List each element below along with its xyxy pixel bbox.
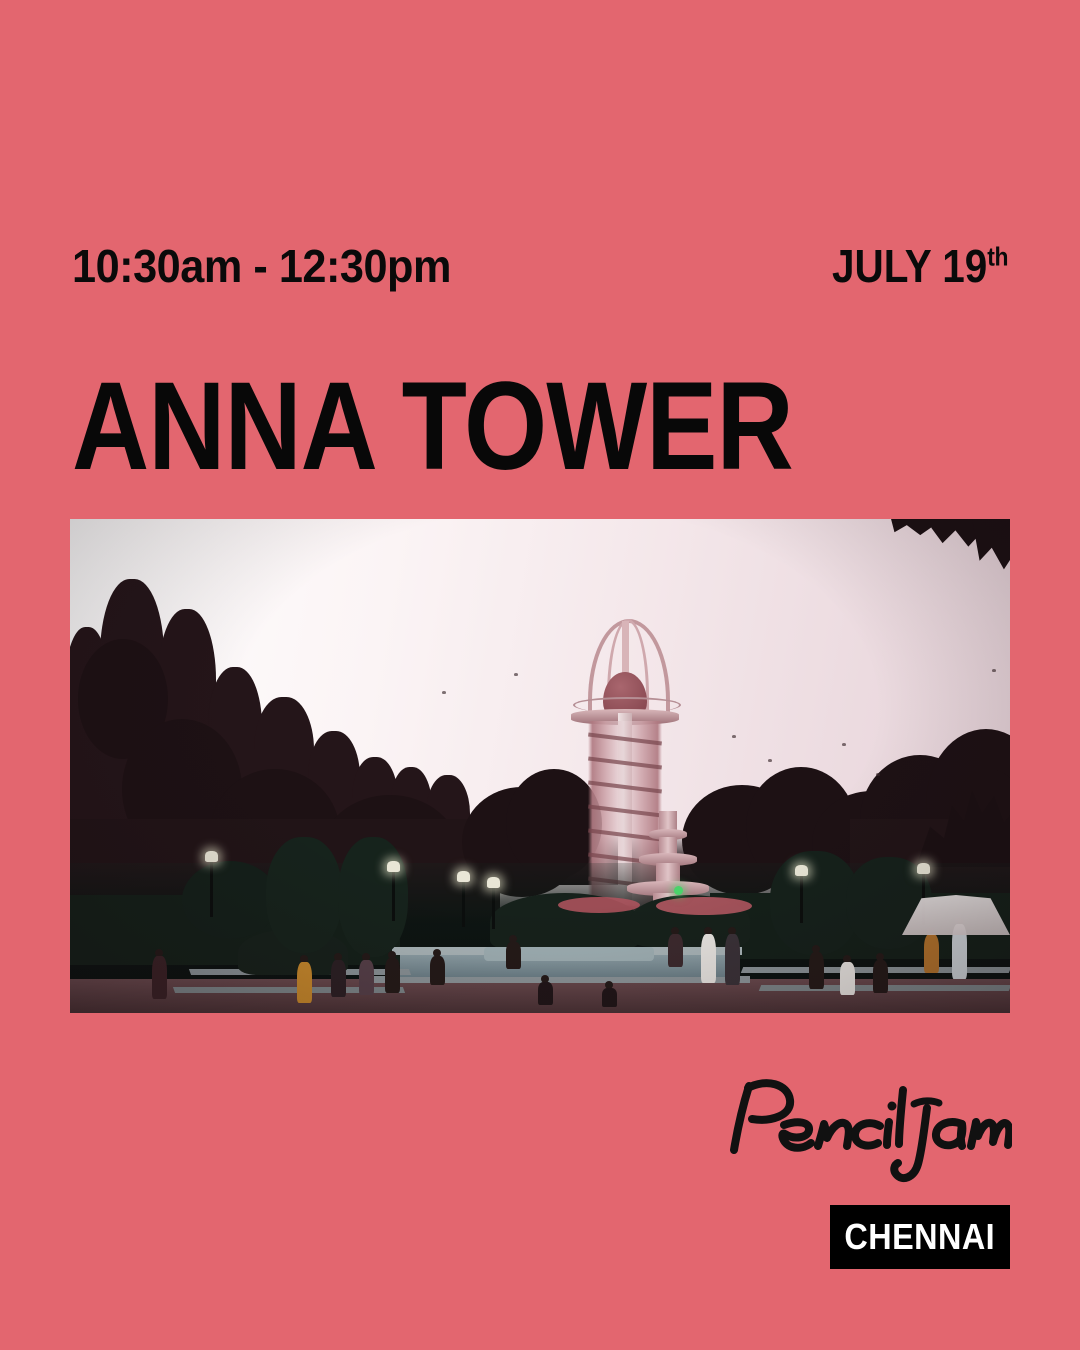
lamp-head [387,861,400,872]
visitor-figure [722,927,742,985]
lamp-post [204,851,218,917]
palm-tree [266,837,342,953]
lamp-post [386,861,400,921]
bird-speck [992,669,996,672]
bird-speck [842,743,846,746]
event-meta-row: 10:30am - 12:30pm JULY 19th [72,243,1008,295]
venue-photo [70,519,1010,1013]
figure-body [701,934,716,983]
figure-body [602,988,617,1007]
figure-body [809,952,824,989]
bird-speck [514,673,518,676]
lamp-head [457,871,470,882]
lamp-head [487,877,500,888]
visitor-figure [806,945,826,989]
visitor-figure [328,953,348,997]
lamp-head [205,851,218,862]
event-poster: 10:30am - 12:30pm JULY 19th ANNA TOWER [0,0,1080,1350]
visitor-figure [870,953,890,993]
bird-speck [876,773,880,776]
event-time-range: 10:30am - 12:30pm [72,243,451,289]
visitor-figure [294,955,314,1003]
photo-scene [70,519,1010,1013]
lamp-post [456,871,470,927]
visitor-figure [666,927,684,967]
event-date-label: JULY 19 [832,240,987,292]
signal-light [674,886,683,895]
bird-speck [732,735,736,738]
figure-body [538,982,553,1005]
figure-body [297,962,312,1003]
bird-speck [768,759,772,762]
figure-body [924,934,939,973]
flower-bed [656,897,752,915]
figure-body [725,934,740,985]
figure-body [430,956,445,985]
visitor-figure [382,951,402,993]
visitor-figure [428,949,446,985]
bird-speck [442,691,446,694]
figure-body [873,960,888,993]
figure-body [152,956,167,999]
figure-body [506,942,521,969]
flower-bed [558,897,640,913]
visitor-figure [836,955,858,995]
event-date-ordinal: th [987,242,1008,272]
visitor-figure [504,935,522,969]
figure-body [840,962,855,995]
visitor-figure [148,949,170,999]
figure-body [385,958,400,993]
page-title: ANNA TOWER [72,368,793,483]
chapter-badge-label: CHENNAI [845,1219,996,1255]
figure-body [359,960,374,995]
lamp-head [795,865,808,876]
lamp-post [794,865,808,923]
figure-body [668,934,683,967]
chapter-badge[interactable]: CHENNAI [830,1205,1010,1269]
plaza-kerb [370,976,750,983]
visitor-figure [536,975,554,1005]
brand-logo[interactable] [722,1072,1012,1192]
visitor-figure [600,981,618,1007]
visitor-figure [698,927,718,983]
visitor-figure [356,953,376,995]
lamp-head [917,863,930,874]
event-date: JULY 19th [832,243,1008,289]
figure-body [331,960,346,997]
palm-tree [182,861,278,939]
branch-overhang [972,519,1010,591]
lamp-post [486,877,500,929]
